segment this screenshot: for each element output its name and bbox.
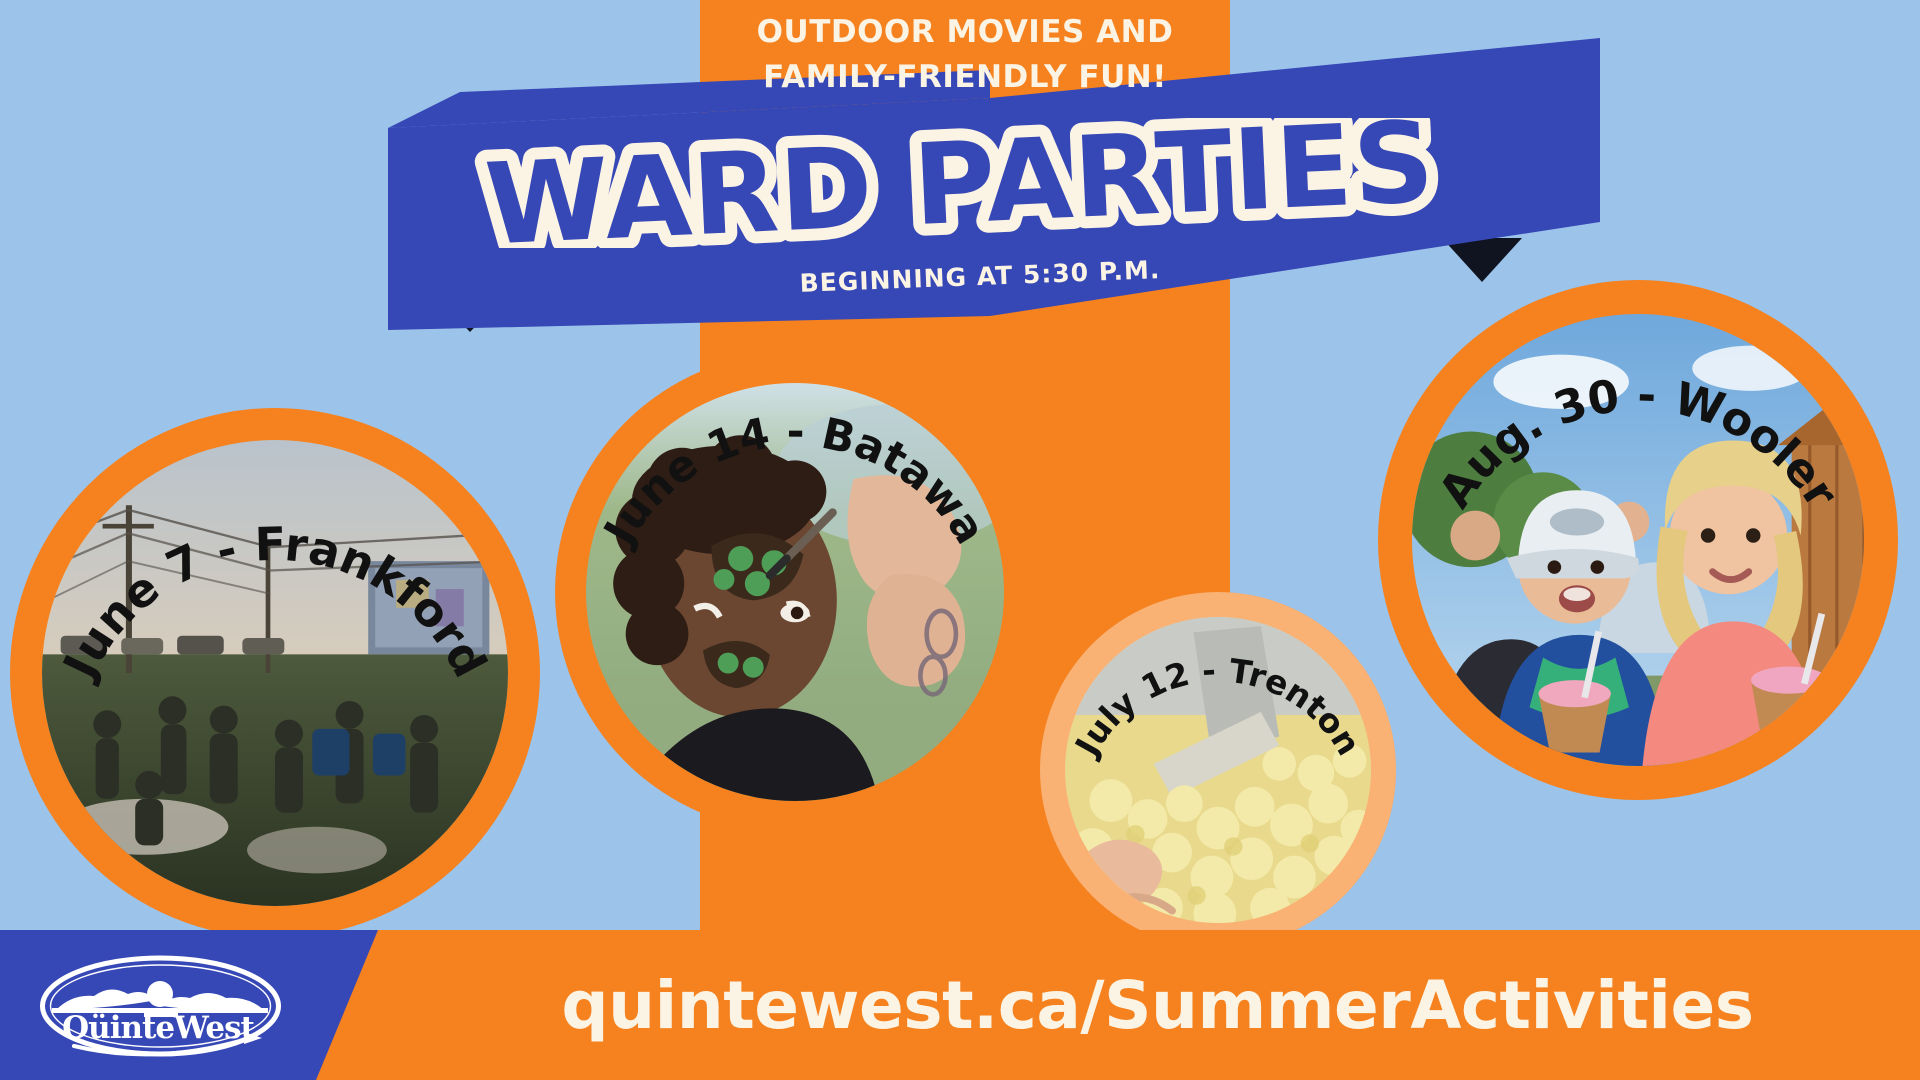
event-circle-wooler[interactable]: Aug. 30 - Wooler xyxy=(1378,280,1898,800)
footer-bar: QüinteWest quintewest.ca/SummerActivitie… xyxy=(0,930,1920,1080)
event-photo-frankford xyxy=(42,440,508,906)
poster-canvas: OUTDOOR MOVIES AND FAMILY-FRIENDLY FUN! … xyxy=(0,0,1920,1080)
event-photo-batawa xyxy=(586,383,1004,801)
title-text-outline: WARD PARTIES xyxy=(482,118,1437,248)
event-photo-wooler xyxy=(1412,314,1864,766)
event-circle-trenton[interactable]: July 12 - Trenton xyxy=(1040,592,1396,948)
event-photo-trenton xyxy=(1065,617,1371,923)
event-circle-batawa[interactable]: June 14 - Batawa xyxy=(555,352,1035,832)
quinte-west-logo[interactable]: QüinteWest xyxy=(38,952,283,1060)
website-url[interactable]: quintewest.ca/SummerActivities xyxy=(395,930,1920,1080)
logo-wordmark: QüinteWest xyxy=(62,1010,255,1046)
title-artwork: WARD PARTIES xyxy=(460,118,1460,248)
kicker-line-2: FAMILY-FRIENDLY FUN! xyxy=(700,55,1230,100)
kicker-text: OUTDOOR MOVIES AND FAMILY-FRIENDLY FUN! xyxy=(700,10,1230,100)
main-title: WARD PARTIES xyxy=(0,118,1920,248)
kicker-line-1: OUTDOOR MOVIES AND xyxy=(700,10,1230,55)
event-circle-frankford[interactable]: June 7 - Frankford xyxy=(10,408,540,938)
